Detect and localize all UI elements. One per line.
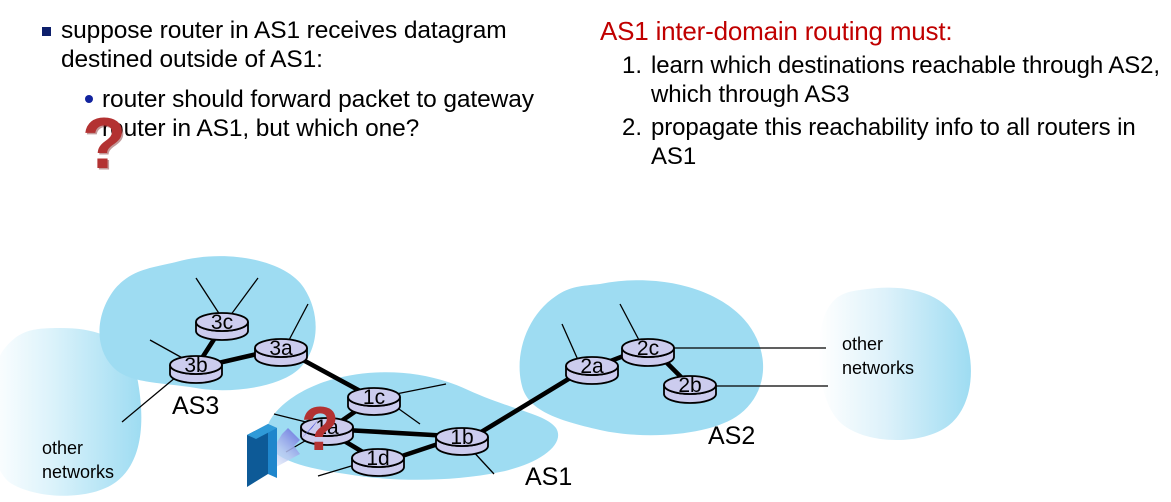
router-label-2a: 2a: [580, 355, 604, 378]
bullet-item-forward: router should forward packet to gateway …: [85, 85, 585, 144]
router-label-1c: 1c: [363, 386, 385, 409]
router-3c[interactable]: 3c: [196, 311, 248, 340]
cloud-label-right-line1: other: [842, 334, 883, 354]
router-2c[interactable]: 2c: [622, 337, 674, 366]
cloud-label-left-line2: networks: [42, 462, 114, 482]
question-mark-overlay-icon: ?: [301, 395, 339, 464]
network-topology-diagram: other networks other networks: [0, 232, 1171, 502]
round-bullet-icon: [85, 95, 93, 103]
page-title: AS1 inter-domain routing must:: [600, 16, 1165, 47]
router-label-3a: 3a: [269, 337, 293, 360]
right-text-column: AS1 inter-domain routing must: 1. learn …: [600, 16, 1165, 171]
cloud-other-networks-right: other networks: [819, 288, 971, 440]
router-1d[interactable]: 1d: [352, 447, 404, 476]
router-3a[interactable]: 3a: [255, 337, 307, 366]
router-label-2b: 2b: [678, 374, 701, 397]
router-2b[interactable]: 2b: [664, 374, 716, 403]
router-label-1b: 1b: [450, 426, 473, 449]
numbered-item-1-marker: 1.: [622, 51, 642, 80]
cloud-label-left-line1: other: [42, 438, 83, 458]
numbered-item-1: 1. learn which destinations reachable th…: [622, 51, 1165, 110]
numbered-item-1-text: learn which destinations reachable throu…: [651, 51, 1165, 110]
question-mark-icon: ?: [82, 108, 126, 180]
numbered-item-2: 2. propagate this reachability info to a…: [622, 113, 1165, 172]
numbered-item-2-text: propagate this reachability info to all …: [651, 113, 1165, 172]
router-label-1d: 1d: [366, 447, 389, 470]
router-1c[interactable]: 1c: [348, 386, 400, 415]
bullet-text-forward: router should forward packet to gateway …: [102, 85, 585, 144]
bullet-text-suppose: suppose router in AS1 receives datagram …: [61, 16, 587, 75]
as-label-as3: AS3: [172, 392, 219, 420]
square-bullet-icon: [42, 27, 51, 36]
left-text-column: suppose router in AS1 receives datagram …: [42, 16, 587, 144]
as-label-as1: AS1: [525, 463, 572, 491]
router-2a[interactable]: 2a: [566, 355, 618, 384]
router-label-2c: 2c: [637, 337, 659, 360]
router-label-3b: 3b: [184, 354, 207, 377]
bullet-item-suppose: suppose router in AS1 receives datagram …: [42, 16, 587, 75]
numbered-item-2-marker: 2.: [622, 113, 642, 142]
router-1b[interactable]: 1b: [436, 426, 488, 455]
as-label-as2: AS2: [708, 422, 755, 450]
router-label-3c: 3c: [211, 311, 233, 334]
cloud-label-right-line2: networks: [842, 358, 914, 378]
router-3b[interactable]: 3b: [170, 354, 222, 383]
